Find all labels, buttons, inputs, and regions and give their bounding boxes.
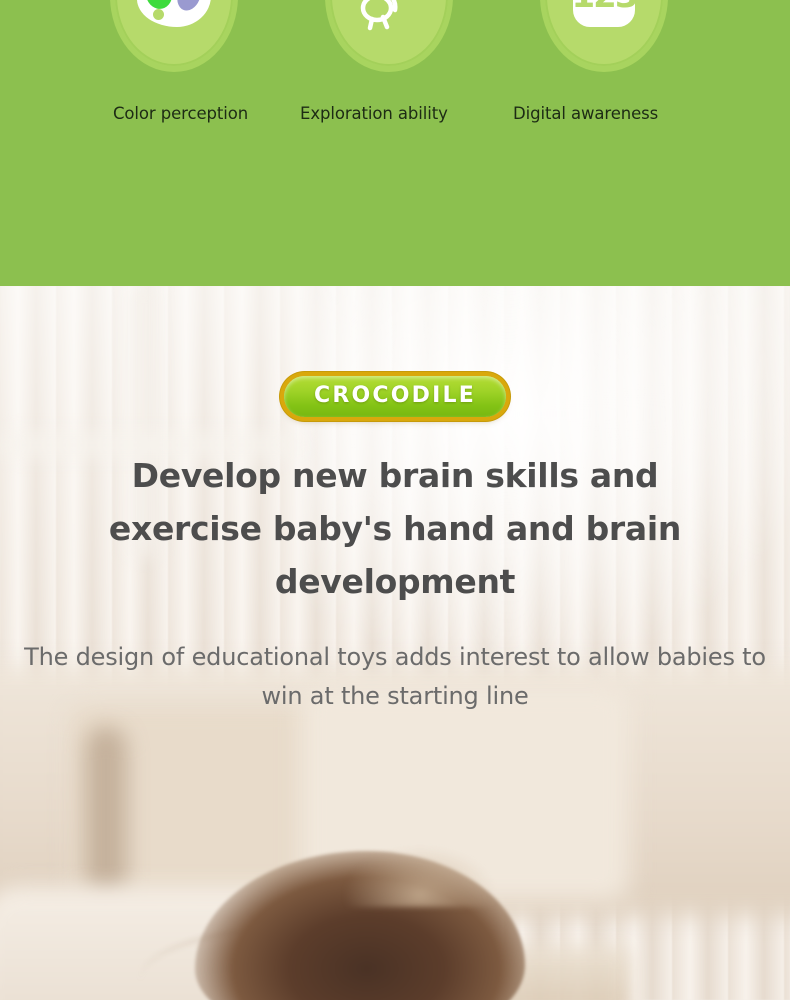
feature-circle-digital-awareness[interactable]: 123 — [540, 0, 668, 72]
numbers-123-icon: 123 — [540, 0, 668, 72]
feature-label-digital-awareness: Digital awareness — [513, 104, 658, 123]
product-detail-page: 123 Color perception Exploration ability… — [0, 0, 790, 1000]
brand-badge-wrapper: CROCODILE — [0, 376, 790, 417]
hero-heading: Develop new brain skills and exercise ba… — [0, 449, 790, 608]
sofa-cushion-shadow — [85, 726, 127, 901]
palette-thumb-hole — [153, 9, 164, 20]
baby-hair-highlight — [345, 847, 495, 907]
hero-subheading: The design of educational toys adds inte… — [0, 638, 790, 716]
palette-shape — [137, 0, 211, 27]
palette-blob-purple — [173, 0, 205, 14]
palette-icon — [110, 0, 238, 72]
numbers-card: 123 — [573, 0, 635, 27]
feature-label-exploration-ability: Exploration ability — [300, 104, 448, 123]
feature-circle-exploration-ability[interactable] — [325, 0, 453, 72]
feature-circle-color-perception[interactable] — [110, 0, 238, 72]
feature-label-color-perception: Color perception — [113, 104, 248, 123]
magnifier-explore-icon — [325, 0, 453, 72]
hero-section: CROCODILE Develop new brain skills and e… — [0, 286, 790, 1000]
features-section: 123 Color perception Exploration ability… — [0, 0, 790, 286]
baby-photo — [195, 851, 525, 1000]
brand-badge-crocodile[interactable]: CROCODILE — [284, 376, 506, 417]
feature-icon-row: 123 — [0, 0, 790, 72]
feature-label-row: Color perception Exploration ability Dig… — [0, 104, 790, 132]
